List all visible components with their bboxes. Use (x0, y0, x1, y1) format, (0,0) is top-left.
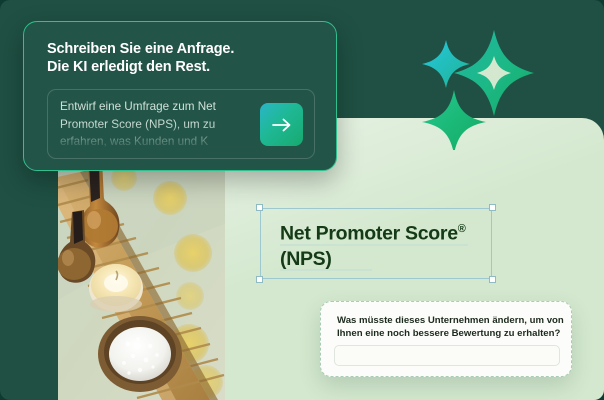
survey-question-card[interactable]: Was müsste dieses Unternehmen ändern, um… (320, 301, 572, 377)
selection-edge-right (491, 208, 492, 279)
selection-edge-left (260, 208, 261, 279)
prompt-line-3: erfahren, was Kunden und K (60, 133, 245, 151)
resize-handle-bottom-right[interactable] (489, 276, 496, 283)
selection-edge-bottom (260, 278, 492, 279)
heading-line-1: Schreiben Sie eine Anfrage. (47, 40, 317, 58)
question-line-2: Ihnen eine noch bessere Bewertung zu erh… (337, 327, 562, 340)
promo-graphic: Net Promoter Score® (NPS) Was müsste die… (0, 0, 604, 400)
sparkle-icon (412, 28, 536, 150)
registered-trademark-symbol: ® (458, 223, 466, 235)
survey-title-line2: (NPS) (280, 247, 490, 272)
heading-line-2: Die KI erledigt den Rest. (47, 58, 317, 76)
answer-input[interactable] (334, 345, 560, 366)
resize-handle-bottom-left[interactable] (256, 276, 263, 283)
ai-prompt-input-box[interactable]: Entwirf eine Umfrage zum Net Promoter Sc… (47, 89, 315, 159)
arrow-right-icon (272, 118, 292, 132)
prompt-line-1: Entwirf eine Umfrage zum Net (60, 98, 245, 116)
send-prompt-button[interactable] (260, 103, 303, 146)
resize-handle-top-right[interactable] (489, 204, 496, 211)
survey-title[interactable]: Net Promoter Score® (NPS) (280, 217, 490, 272)
spa-photo (58, 168, 225, 400)
prompt-line-2: Promoter Score (NPS), um zu (60, 116, 245, 134)
ai-prompt-heading: Schreiben Sie eine Anfrage. Die KI erled… (47, 40, 317, 76)
ai-prompt-card: Schreiben Sie eine Anfrage. Die KI erled… (23, 21, 337, 171)
title-selection-box[interactable]: Net Promoter Score® (NPS) (260, 208, 492, 279)
question-line-1: Was müsste dieses Unternehmen ändern, um… (337, 314, 562, 327)
survey-question-text: Was müsste dieses Unternehmen ändern, um… (337, 314, 562, 340)
selection-edge-top (260, 208, 492, 209)
survey-title-line1: Net Promoter Score (280, 223, 458, 245)
resize-handle-top-left[interactable] (256, 204, 263, 211)
ai-prompt-input-value: Entwirf eine Umfrage zum Net Promoter Sc… (60, 98, 245, 151)
